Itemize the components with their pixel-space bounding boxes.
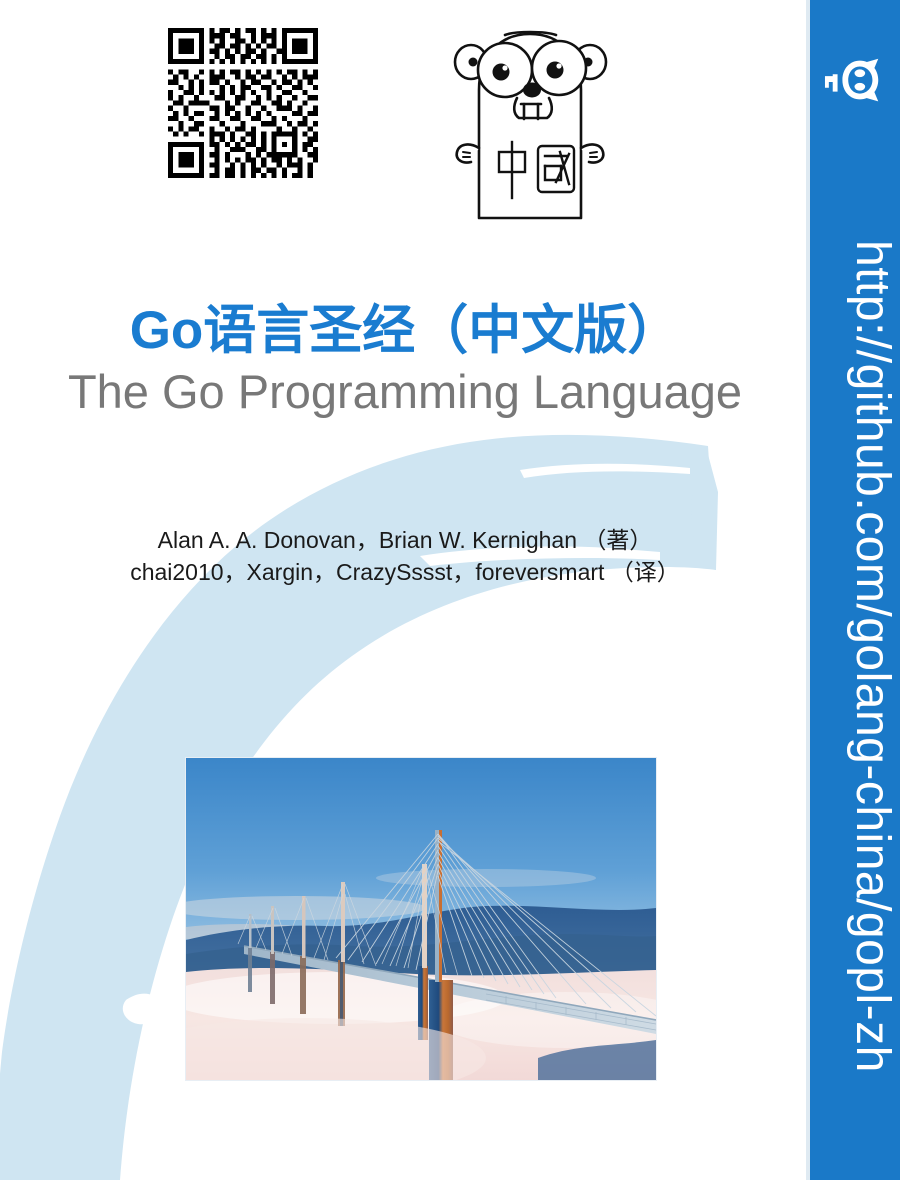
qr-code <box>168 28 318 178</box>
title-block: Go语言圣经（中文版） The Go Programming Language <box>0 300 810 420</box>
translators-line: chai2010，Xargin，CrazySssst，foreversmart … <box>0 556 810 588</box>
page-title: Go语言圣经（中文版） <box>0 300 810 362</box>
millau-viaduct-photo <box>186 758 656 1080</box>
go-gopher-icon <box>443 22 615 227</box>
author-block: Alan A. A. Donovan，Brian W. Kernighan （著… <box>0 524 810 588</box>
authors-line: Alan A. A. Donovan，Brian W. Kernighan （著… <box>0 524 810 556</box>
repository-url[interactable]: http://github.com/golang-china/gopl-zh <box>810 0 900 1180</box>
book-cover: Go语言圣经（中文版） The Go Programming Language … <box>0 0 900 1180</box>
page-subtitle: The Go Programming Language <box>0 364 810 420</box>
